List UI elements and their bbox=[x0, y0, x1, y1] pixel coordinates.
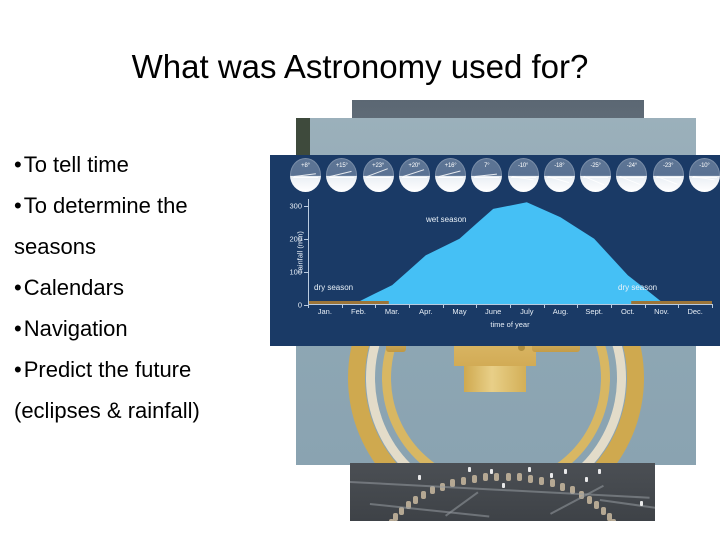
sun-angle-icon: -10° bbox=[508, 158, 539, 192]
list-item: •To tell time bbox=[14, 144, 278, 185]
person-figure bbox=[598, 469, 601, 474]
slide-canvas: What was Astronomy used for? •To tell ti… bbox=[0, 0, 720, 540]
sun-angle-icon: +20° bbox=[399, 158, 430, 192]
stone-marker bbox=[517, 473, 522, 481]
x-tick-label: Aug. bbox=[553, 307, 568, 316]
x-tick-label: Dec. bbox=[687, 307, 702, 316]
sun-ray-line bbox=[367, 168, 388, 177]
x-tick-label: Nov. bbox=[654, 307, 669, 316]
x-tick bbox=[712, 304, 713, 308]
y-tick-label: 0 bbox=[298, 301, 302, 310]
bullet-marker: • bbox=[14, 275, 22, 300]
x-tick-label: Jan. bbox=[318, 307, 332, 316]
path-line bbox=[350, 481, 650, 499]
path-line bbox=[370, 503, 490, 518]
y-axis-line bbox=[308, 199, 309, 305]
person-figure bbox=[550, 473, 553, 478]
stone-marker bbox=[528, 475, 533, 483]
x-tick-label: May bbox=[452, 307, 466, 316]
sun-angle-icon: +15° bbox=[326, 158, 357, 192]
list-item-label: (eclipses & rainfall) bbox=[14, 398, 200, 423]
stone-marker bbox=[611, 519, 616, 521]
x-tick-label: Mar. bbox=[385, 307, 400, 316]
stone-marker bbox=[430, 486, 435, 494]
list-item-label: seasons bbox=[14, 234, 96, 259]
x-tick-label: Sept. bbox=[585, 307, 603, 316]
aerial-stone-circle-photo bbox=[350, 463, 655, 521]
bullet-marker: • bbox=[14, 152, 22, 177]
stone-marker bbox=[506, 473, 511, 481]
person-figure bbox=[585, 477, 588, 482]
sun-angle-icon: -24° bbox=[616, 158, 647, 192]
x-tick-label: Oct. bbox=[621, 307, 635, 316]
path-line bbox=[550, 485, 604, 515]
path-line bbox=[600, 499, 655, 511]
stone-marker bbox=[413, 496, 418, 504]
stone-marker bbox=[539, 477, 544, 485]
sun-angle-icon-row: +8°+15°+23°+20°+16°7°-10°-18°-25°-24°-23… bbox=[290, 158, 720, 198]
list-item: •Calendars bbox=[14, 267, 278, 308]
dry-season-label-right: dry season bbox=[618, 283, 657, 292]
horizon-line bbox=[329, 177, 354, 178]
rainfall-chart-panel: +8°+15°+23°+20°+16°7°-10°-18°-25°-24°-23… bbox=[270, 155, 720, 346]
person-figure bbox=[490, 469, 493, 474]
stone-marker bbox=[472, 475, 477, 483]
y-tick bbox=[304, 206, 309, 207]
bullet-marker: • bbox=[14, 316, 22, 341]
sun-angle-value: +23° bbox=[363, 163, 394, 169]
sun-angle-value: -23° bbox=[653, 163, 684, 169]
stone-marker bbox=[421, 491, 426, 499]
person-figure bbox=[468, 467, 471, 472]
horizon-line bbox=[474, 177, 499, 178]
sun-angle-value: +8° bbox=[290, 163, 321, 169]
list-item-label: Predict the future bbox=[24, 357, 192, 382]
sun-angle-value: -18° bbox=[544, 163, 575, 169]
person-figure bbox=[418, 475, 421, 480]
stone-marker bbox=[550, 479, 555, 487]
page-title: What was Astronomy used for? bbox=[0, 48, 720, 86]
sun-angle-icon: +23° bbox=[363, 158, 394, 192]
x-tick-label: July bbox=[520, 307, 533, 316]
sun-angle-value: 7° bbox=[471, 163, 502, 169]
dry-season-label-left: dry season bbox=[314, 283, 353, 292]
sun-angle-icon: +8° bbox=[290, 158, 321, 192]
chart-plot-area: 0100200300 rainfall (mm) wet season dry … bbox=[308, 199, 712, 305]
sun-angle-value: -10° bbox=[689, 163, 720, 169]
list-item-label: Calendars bbox=[24, 275, 124, 300]
bullet-marker: • bbox=[14, 357, 22, 382]
stone-marker bbox=[494, 473, 499, 481]
person-figure bbox=[640, 501, 643, 506]
horizon-line bbox=[402, 177, 427, 178]
y-tick-label: 300 bbox=[289, 201, 302, 210]
sun-ray-line bbox=[403, 169, 424, 177]
y-axis-label: rainfall (mm) bbox=[295, 231, 304, 273]
sun-angle-value: -10° bbox=[508, 163, 539, 169]
list-item-label: To determine the bbox=[24, 193, 188, 218]
list-item-continuation: (eclipses & rainfall) bbox=[14, 390, 278, 431]
sun-angle-value: +15° bbox=[326, 163, 357, 169]
list-item: •To determine the bbox=[14, 185, 278, 226]
stone-marker bbox=[461, 477, 466, 485]
bullet-list: •To tell time •To determine the seasons … bbox=[14, 144, 278, 431]
list-item: •Navigation bbox=[14, 308, 278, 349]
sun-angle-icon: -25° bbox=[580, 158, 611, 192]
x-tick-label: June bbox=[485, 307, 501, 316]
bullet-marker: • bbox=[14, 193, 22, 218]
stone-marker bbox=[483, 473, 488, 481]
sun-angle-icon: 7° bbox=[471, 158, 502, 192]
horizon-line bbox=[438, 177, 463, 178]
list-item-label: To tell time bbox=[24, 152, 129, 177]
sun-angle-value: +20° bbox=[399, 163, 430, 169]
sun-angle-value: -25° bbox=[580, 163, 611, 169]
x-axis-label: time of year bbox=[308, 320, 712, 329]
y-tick bbox=[304, 239, 309, 240]
list-item-label: Navigation bbox=[24, 316, 128, 341]
sun-angle-icon: -23° bbox=[653, 158, 684, 192]
x-tick-label-row: Jan.Feb.Mar.Apr.MayJuneJulyAug.Sept.Oct.… bbox=[308, 307, 712, 321]
horizon-line bbox=[293, 177, 318, 178]
sun-angle-value: +16° bbox=[435, 163, 466, 169]
stone-marker bbox=[393, 513, 398, 521]
stone-marker bbox=[587, 496, 592, 504]
list-item-continuation: seasons bbox=[14, 226, 278, 267]
stone-marker bbox=[594, 501, 599, 509]
sun-angle-icon: -18° bbox=[544, 158, 575, 192]
sun-angle-icon: -10° bbox=[689, 158, 720, 192]
x-tick-label: Feb. bbox=[351, 307, 366, 316]
list-item: •Predict the future bbox=[14, 349, 278, 390]
person-figure bbox=[528, 467, 531, 472]
wet-season-label: wet season bbox=[426, 215, 466, 224]
stone-marker bbox=[560, 483, 565, 491]
sun-ray-line bbox=[439, 170, 461, 176]
person-figure bbox=[564, 469, 567, 474]
horizon-line bbox=[366, 177, 391, 178]
x-tick-label: Apr. bbox=[419, 307, 432, 316]
sun-angle-value: -24° bbox=[616, 163, 647, 169]
sun-angle-icon: +16° bbox=[435, 158, 466, 192]
stone-marker bbox=[601, 507, 606, 515]
person-figure bbox=[502, 483, 505, 488]
y-tick bbox=[304, 272, 309, 273]
